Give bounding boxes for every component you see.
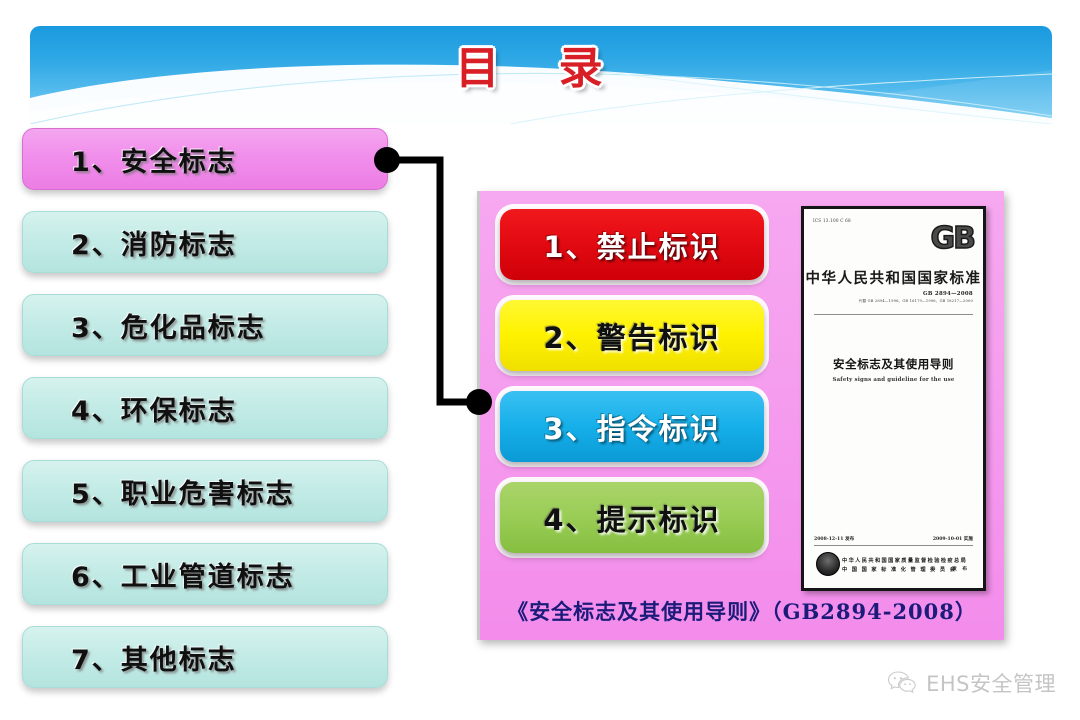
connector-elbow-line [0, 0, 1080, 720]
connector-end-dot [466, 389, 492, 415]
connector-start-dot [374, 147, 400, 173]
